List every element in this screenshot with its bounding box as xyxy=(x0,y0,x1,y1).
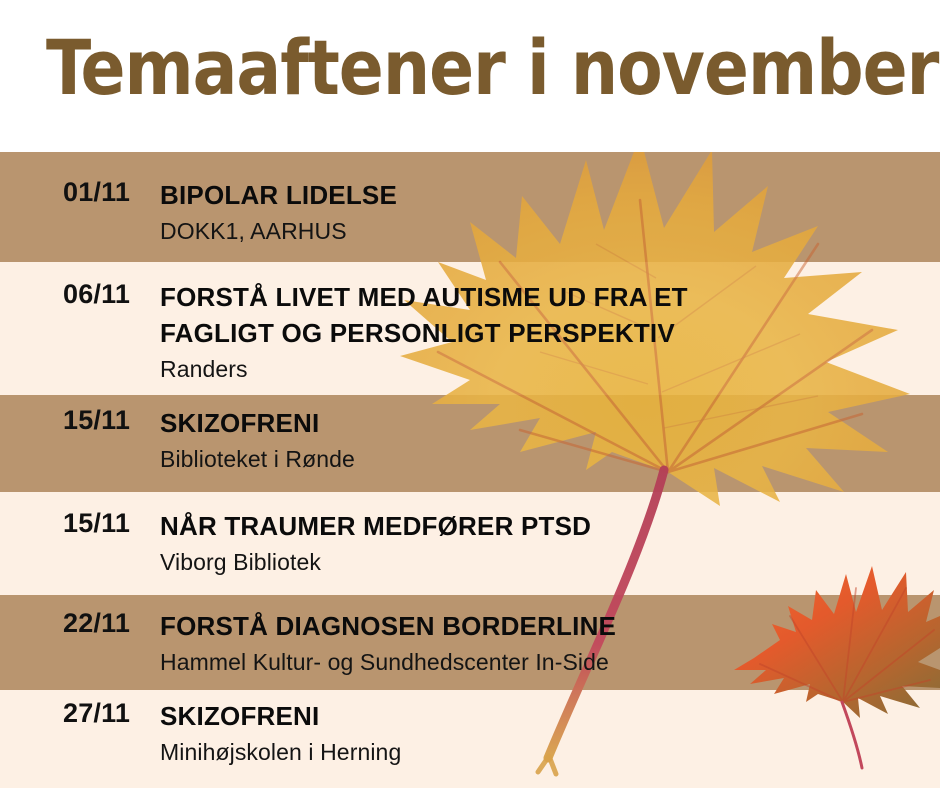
page-title: Temaaftener i november xyxy=(46,24,938,112)
event-venue: Viborg Bibliotek xyxy=(160,546,926,578)
poster: 01/11 BIPOLAR LIDELSE DOKK1, AARHUS 06/1… xyxy=(0,0,940,788)
event-venue: Minihøjskolen i Herning xyxy=(160,736,926,768)
event-date: 15/11 xyxy=(0,405,160,436)
event-row[interactable]: 06/11 FORSTÅ LIVET MED AUTISME UD FRA ET… xyxy=(0,279,940,385)
event-title: FORSTÅ LIVET MED AUTISME UD FRA ET FAGLI… xyxy=(160,279,926,351)
event-venue: DOKK1, AARHUS xyxy=(160,215,926,247)
event-date: 27/11 xyxy=(0,698,160,729)
event-row[interactable]: 15/11 SKIZOFRENI Biblioteket i Rønde xyxy=(0,405,940,475)
event-title: BIPOLAR LIDELSE xyxy=(160,177,926,213)
event-venue: Biblioteket i Rønde xyxy=(160,443,926,475)
event-date: 15/11 xyxy=(0,508,160,539)
event-venue: Hammel Kultur- og Sundhedscenter In-Side xyxy=(160,646,926,678)
event-row[interactable]: 01/11 BIPOLAR LIDELSE DOKK1, AARHUS xyxy=(0,177,940,247)
poster-header: Temaaftener i november xyxy=(0,0,940,152)
event-title: FORSTÅ DIAGNOSEN BORDERLINE xyxy=(160,608,926,644)
event-title: NÅR TRAUMER MEDFØRER PTSD xyxy=(160,508,926,544)
event-row[interactable]: 27/11 SKIZOFRENI Minihøjskolen i Herning xyxy=(0,698,940,768)
event-date: 22/11 xyxy=(0,608,160,639)
event-date: 06/11 xyxy=(0,279,160,310)
event-venue: Randers xyxy=(160,353,926,385)
event-title: SKIZOFRENI xyxy=(160,405,926,441)
event-row[interactable]: 15/11 NÅR TRAUMER MEDFØRER PTSD Viborg B… xyxy=(0,508,940,578)
event-date: 01/11 xyxy=(0,177,160,208)
event-title: SKIZOFRENI xyxy=(160,698,926,734)
event-row[interactable]: 22/11 FORSTÅ DIAGNOSEN BORDERLINE Hammel… xyxy=(0,608,940,678)
